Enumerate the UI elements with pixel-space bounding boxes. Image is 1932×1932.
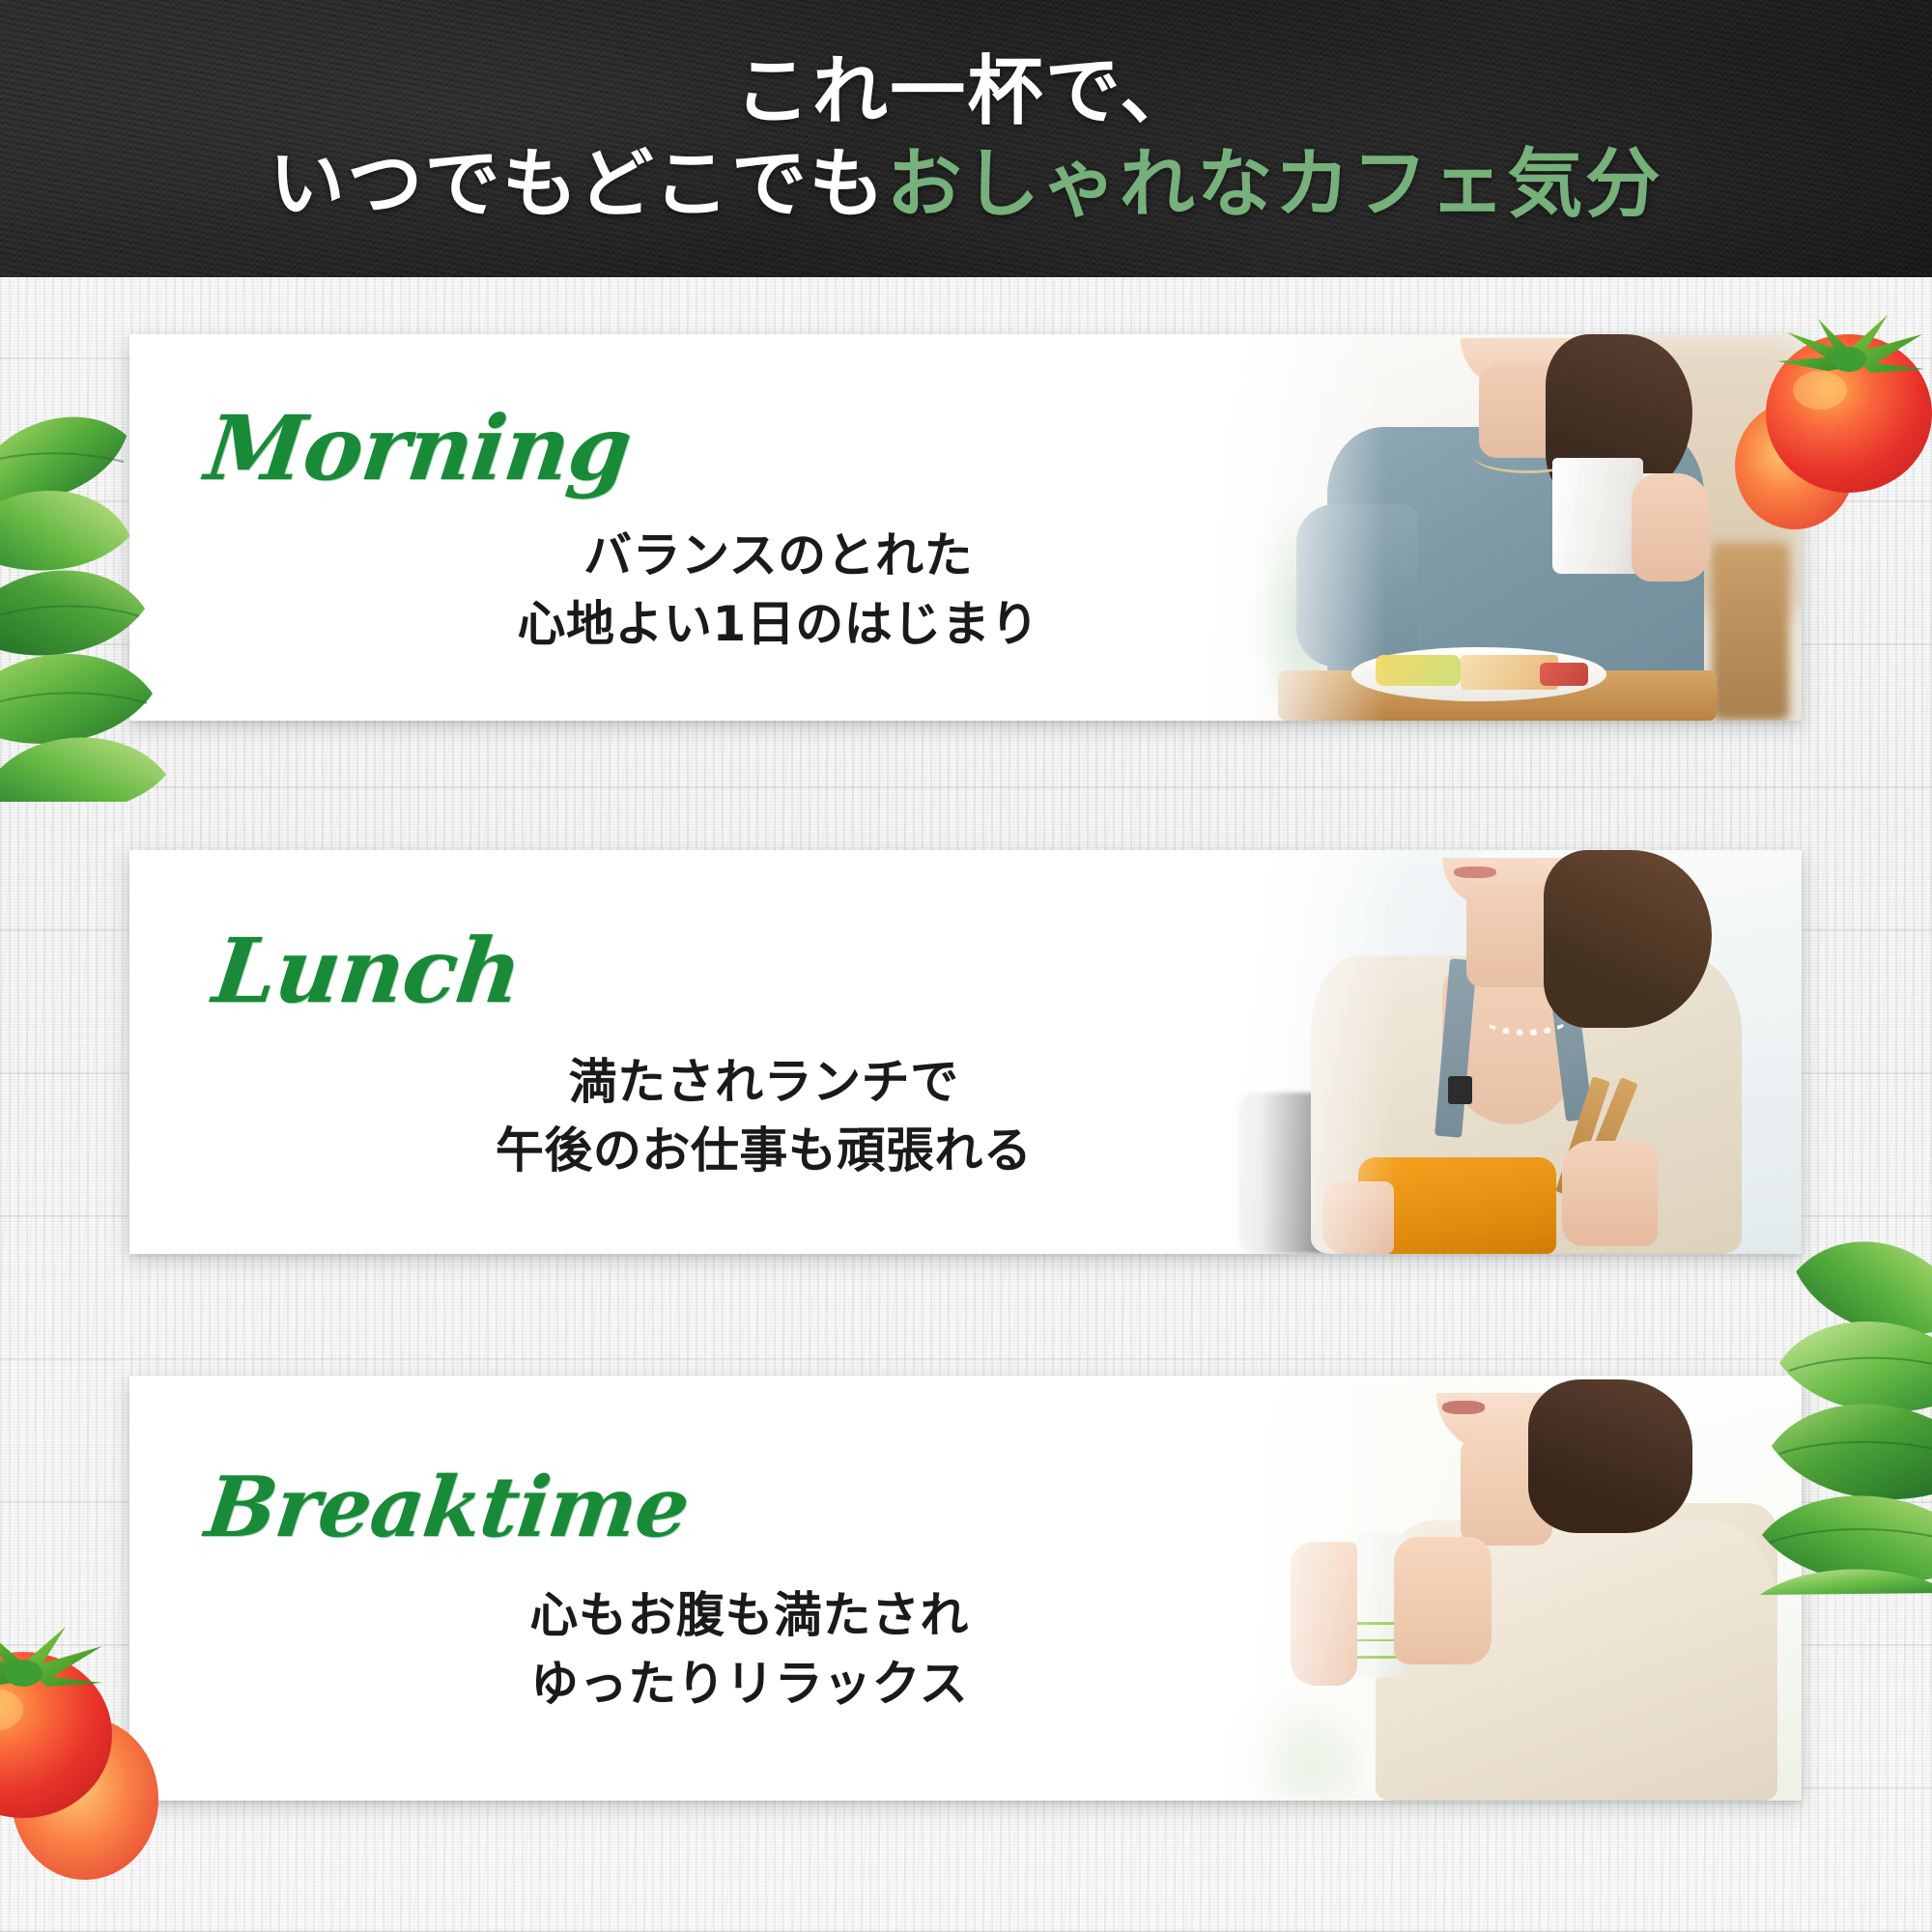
card-morning-caption-line2: 心地よい1日のはじまり: [390, 590, 1166, 659]
card-morning-caption: バランスのとれた 心地よい1日のはじまり: [197, 522, 1166, 659]
card-breaktime-text: Breaktime 心もお腹も満たされ ゆったりリラックス: [129, 1376, 1166, 1801]
card-breaktime[interactable]: Breaktime 心もお腹も満たされ ゆったりリラックス: [129, 1376, 1802, 1801]
card-morning-text: Morning バランスのとれた 心地よい1日のはじまり: [129, 334, 1166, 721]
card-lunch-text: Lunch 満たされランチで 午後のお仕事も頑張れる: [129, 850, 1166, 1254]
card-breaktime-caption-line1: 心もお腹も満たされ: [332, 1581, 1166, 1650]
photo-fade-overlay: [1193, 334, 1386, 721]
card-lunch-title: Lunch: [208, 919, 1172, 1023]
card-lunch[interactable]: Lunch 満たされランチで 午後のお仕事も頑張れる: [129, 850, 1802, 1254]
card-morning-caption-line1: バランスのとれた: [390, 522, 1166, 590]
header-headline-accent: おしゃれなカフェ気分: [887, 141, 1662, 228]
card-morning[interactable]: Morning バランスのとれた 心地よい1日のはじまり: [129, 334, 1802, 721]
card-lunch-photo: [1203, 850, 1802, 1254]
card-breaktime-title: Breaktime: [201, 1459, 1173, 1556]
card-morning-photo: [1193, 334, 1802, 721]
card-breaktime-photo: [1193, 1376, 1802, 1801]
photo-fade-overlay: [1203, 850, 1396, 1254]
photo-fade-overlay: [1193, 1376, 1386, 1801]
card-lunch-caption: 満たされランチで 午後のお仕事も頑張れる: [197, 1048, 1166, 1185]
header-banner: これ一杯で、 いつでもどこでもおしゃれなカフェ気分: [0, 0, 1932, 277]
card-lunch-caption-line1: 満たされランチで: [361, 1048, 1166, 1117]
card-breaktime-caption-line2: ゆったりリラックス: [332, 1650, 1166, 1719]
header-headline-plain: いつでもどこでも: [270, 141, 887, 228]
header-headline-line1: これ一杯で、: [735, 46, 1198, 138]
card-breaktime-caption: 心もお腹も満たされ ゆったりリラックス: [197, 1581, 1166, 1719]
header-headline-line2: いつでもどこでもおしゃれなカフェ気分: [270, 139, 1662, 231]
card-morning-title: Morning: [200, 396, 1172, 500]
card-lunch-caption-line2: 午後のお仕事も頑張れる: [361, 1117, 1166, 1185]
